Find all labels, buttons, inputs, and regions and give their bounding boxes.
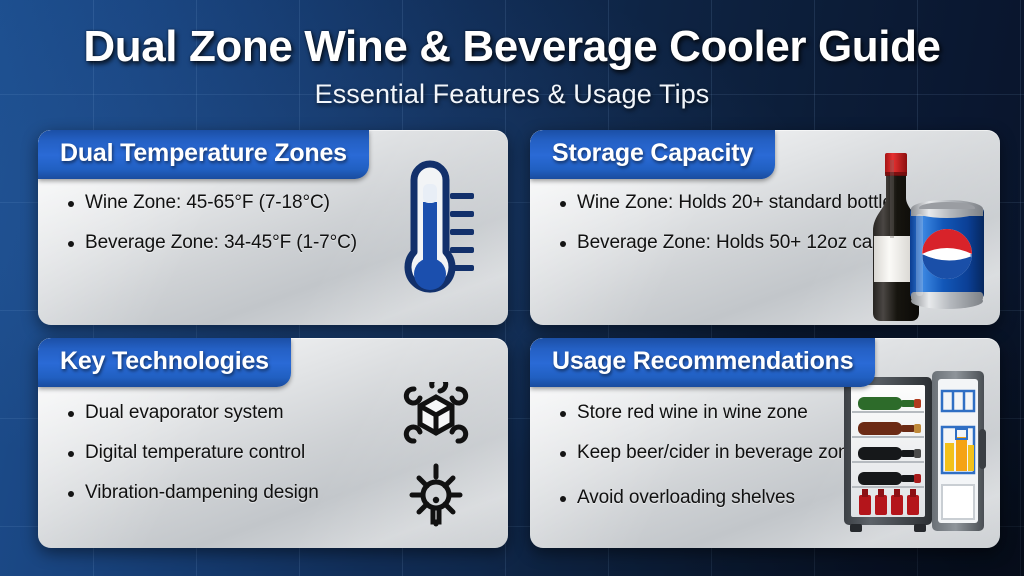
card-header-storage-capacity: Storage Capacity: [530, 130, 775, 179]
card-dual-temperature-zones[interactable]: Dual Temperature Zones Wine Zone: 45-65°…: [38, 130, 508, 325]
bullet-dot-icon: [560, 241, 566, 247]
page-title: Dual Zone Wine & Beverage Cooler Guide: [83, 22, 940, 72]
page-subtitle: Essential Features & Usage Tips: [315, 79, 710, 110]
list-item-label: Avoid overloading shelves: [577, 485, 795, 512]
bullet-list-usage-recommendations: Store red wine in wine zone Keep beer/ci…: [556, 400, 860, 525]
network-cube-icon: [400, 382, 472, 448]
list-item-label: Vibration-dampening design: [85, 480, 319, 507]
thermometer-icon: [392, 158, 478, 313]
card-key-technologies[interactable]: Key Technologies Dual evaporator system …: [38, 338, 508, 548]
bullet-dot-icon: [560, 451, 566, 457]
bullet-dot-icon: [68, 451, 74, 457]
open-wine-cooler-icon: [840, 367, 992, 544]
list-item-label: Beverage Zone: 34-45°F (1-7°C): [85, 230, 357, 257]
bullet-list-dual-temperature-zones: Wine Zone: 45-65°F (7-18°C) Beverage Zon…: [64, 190, 388, 270]
card-usage-recommendations[interactable]: Usage Recommendations Store red wine in …: [530, 338, 1000, 548]
list-item-label: Store red wine in wine zone: [577, 400, 808, 427]
bullet-list-key-technologies: Dual evaporator system Digital temperatu…: [64, 400, 388, 520]
list-item-label: Digital temperature control: [85, 440, 305, 467]
bullet-dot-icon: [68, 201, 74, 207]
card-title: Storage Capacity: [552, 139, 753, 168]
list-item: Digital temperature control: [64, 440, 388, 467]
card-header-usage-recommendations: Usage Recommendations: [530, 338, 875, 387]
list-item-label: Dual evaporator system: [85, 400, 283, 427]
list-item-label: Keep beer/cider in beverage zone: [577, 440, 859, 467]
list-item: Store red wine in wine zone: [556, 400, 860, 427]
list-item-label: Wine Zone: Holds 20+ standard bottles: [577, 190, 902, 217]
technology-icons-group: [400, 382, 472, 528]
header: Dual Zone Wine & Beverage Cooler Guide E…: [0, 0, 1024, 122]
card-header-key-technologies: Key Technologies: [38, 338, 291, 387]
card-title: Dual Temperature Zones: [60, 139, 347, 168]
list-item: Keep beer/cider in beverage zone: [556, 440, 860, 467]
bullet-dot-icon: [560, 411, 566, 417]
bullet-dot-icon: [560, 201, 566, 207]
list-item: Beverage Zone: 34-45°F (1-7°C): [64, 230, 388, 257]
temperature-control-icon: [400, 462, 472, 528]
list-item: Avoid overloading shelves: [556, 485, 860, 512]
list-item: Vibration-dampening design: [64, 480, 388, 507]
bullet-dot-icon: [68, 241, 74, 247]
card-storage-capacity[interactable]: Storage Capacity Wine Zone: Holds 20+ st…: [530, 130, 1000, 325]
list-item: Dual evaporator system: [64, 400, 388, 427]
list-item-label: Beverage Zone: Holds 50+ 12oz cans: [577, 230, 892, 257]
bullet-dot-icon: [68, 491, 74, 497]
bullet-dot-icon: [560, 496, 566, 502]
card-header-dual-temperature-zones: Dual Temperature Zones: [38, 130, 369, 179]
card-title: Usage Recommendations: [552, 347, 853, 376]
wine-bottle-and-can-icon: [856, 144, 996, 325]
list-item: Wine Zone: 45-65°F (7-18°C): [64, 190, 388, 217]
card-title: Key Technologies: [60, 347, 269, 376]
bullet-dot-icon: [68, 411, 74, 417]
list-item-label: Wine Zone: 45-65°F (7-18°C): [85, 190, 330, 217]
cards-grid: Dual Temperature Zones Wine Zone: 45-65°…: [38, 130, 1000, 550]
